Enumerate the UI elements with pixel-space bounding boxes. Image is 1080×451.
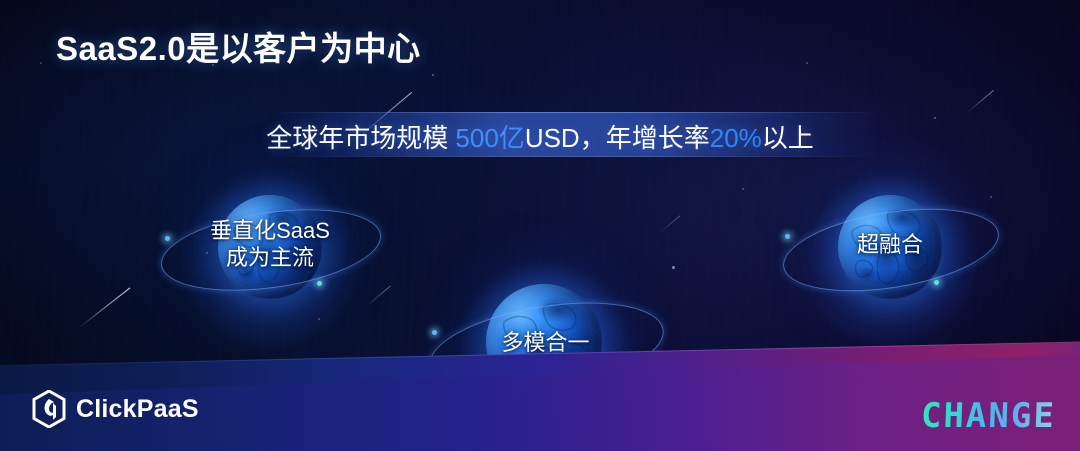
presentation-slide: SaaS2.0是以客户为中心 全球年市场规模 500亿USD，年增长率20%以上 <box>0 0 1080 451</box>
subtitle-lead: 全球年市场规模 <box>266 123 455 153</box>
globe-orbit-ring <box>156 197 386 303</box>
globe-orbit-ring <box>777 195 1004 304</box>
subtitle-banner-top-edge <box>270 112 880 113</box>
subtitle-growth-rate: 20% <box>710 123 762 153</box>
subtitle-separator: ，年增长率 <box>580 123 710 153</box>
subtitle-text: 全球年市场规模 500亿USD，年增长率20%以上 <box>0 118 1080 155</box>
subtitle-banner-bottom-edge <box>270 156 880 157</box>
globe-item-vertical-saas[interactable]: 垂直化SaaS 成为主流 <box>160 160 380 360</box>
hexagon-logo-icon <box>32 390 66 428</box>
globe-orbit-node <box>317 281 322 286</box>
globe-item-hyperconverged[interactable]: 超融合 <box>782 160 998 360</box>
globe-orbit-node <box>432 330 437 335</box>
subtitle-tail: 以上 <box>762 123 814 153</box>
globe-orbit-node <box>934 280 939 285</box>
campaign-wordmark: CHANGE <box>920 396 1056 436</box>
globe-orbit-node <box>165 236 170 241</box>
globe-orbit-node <box>785 234 790 239</box>
page-title: SaaS2.0是以客户为中心 <box>56 22 421 70</box>
subtitle-market-size: 500亿 <box>455 123 524 153</box>
subtitle-currency: USD <box>525 123 580 153</box>
brand-name: ClickPaaS <box>76 395 199 424</box>
brand-logo[interactable]: ClickPaaS <box>32 390 199 428</box>
